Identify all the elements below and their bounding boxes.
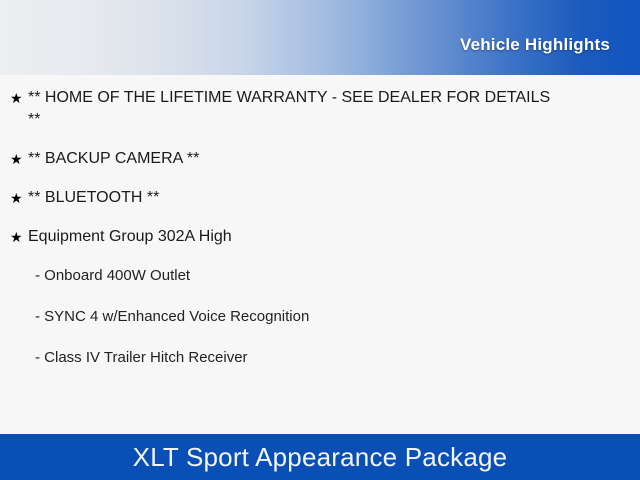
list-item-label: ** HOME OF THE LIFETIME WARRANTY - SEE D…: [28, 87, 558, 131]
star-icon: ★: [10, 187, 28, 209]
list-item: - SYNC 4 w/Enhanced Voice Recognition: [10, 306, 622, 328]
list-item-label: ** BACKUP CAMERA **: [28, 148, 558, 170]
header-banner: Vehicle Highlights: [0, 0, 640, 75]
list-item-label: ** BLUETOOTH **: [28, 187, 558, 209]
highlights-body: ★ ** HOME OF THE LIFETIME WARRANTY - SEE…: [0, 75, 640, 434]
list-item-label: - SYNC 4 w/Enhanced Voice Recognition: [35, 306, 565, 328]
page-title: Vehicle Highlights: [460, 21, 640, 55]
list-item: ★ ** BLUETOOTH **: [10, 187, 622, 209]
highlights-list: ★ ** HOME OF THE LIFETIME WARRANTY - SEE…: [10, 87, 622, 369]
star-icon: ★: [10, 226, 28, 248]
list-item-label: Equipment Group 302A High: [28, 226, 558, 248]
list-item: - Class IV Trailer Hitch Receiver: [10, 347, 622, 369]
list-item: ★ Equipment Group 302A High: [10, 226, 622, 248]
list-item: ★ ** HOME OF THE LIFETIME WARRANTY - SEE…: [10, 87, 622, 131]
list-item-label: - Onboard 400W Outlet: [35, 265, 565, 287]
star-icon: ★: [10, 148, 28, 170]
list-item-label: - Class IV Trailer Hitch Receiver: [35, 347, 565, 369]
list-item: ★ ** BACKUP CAMERA **: [10, 148, 622, 170]
footer-title: XLT Sport Appearance Package: [133, 442, 508, 473]
vehicle-highlights-slide: Vehicle Highlights ★ ** HOME OF THE LIFE…: [0, 0, 640, 480]
list-item: - Onboard 400W Outlet: [10, 265, 622, 287]
footer-banner: XLT Sport Appearance Package: [0, 434, 640, 480]
star-icon: ★: [10, 87, 28, 109]
